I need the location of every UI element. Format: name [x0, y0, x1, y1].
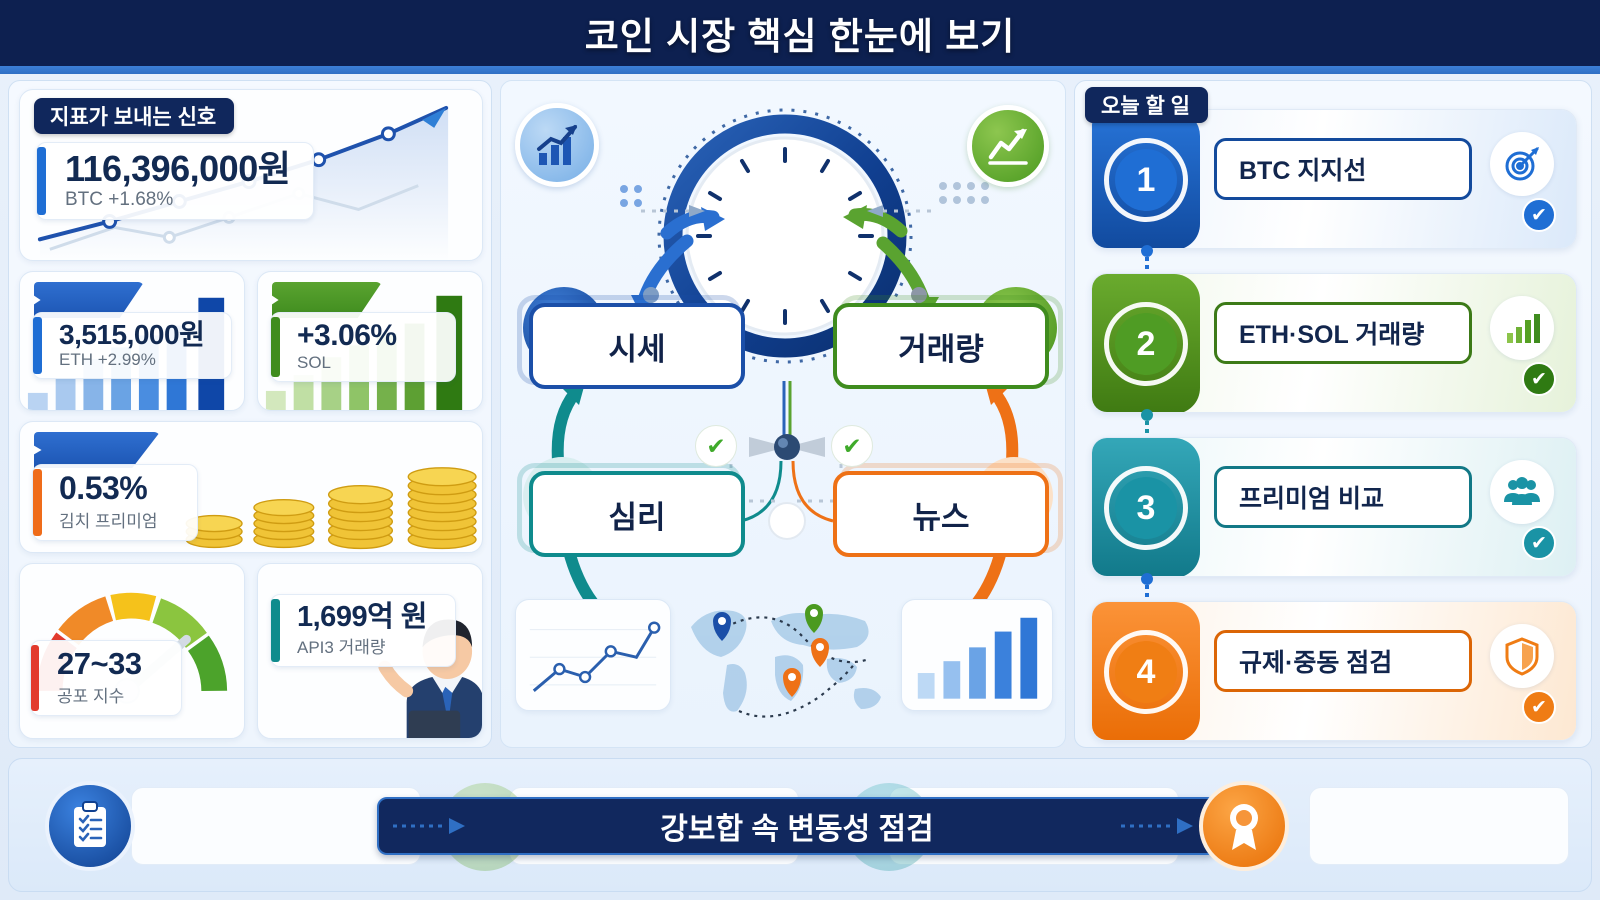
right-panel: 오늘 할 일 1 BTC 지지선 ✔ 2	[1074, 80, 1592, 748]
node-sentiment-label: 심리	[608, 492, 665, 537]
todo-4-number: 4	[1115, 641, 1177, 703]
shield-icon	[1490, 624, 1554, 688]
node-price[interactable]: 시세	[529, 303, 745, 389]
bar-chart-icon	[1490, 296, 1554, 360]
todo-2-label: ETH·SOL 거래량	[1214, 302, 1472, 364]
right-panel-badge: 오늘 할 일	[1085, 87, 1208, 123]
todo-4-label: 규제·중동 점검	[1214, 630, 1472, 692]
target-icon	[1490, 132, 1554, 196]
node-news[interactable]: 뉴스	[833, 471, 1049, 557]
left-panel-badge: 지표가 보내는 신호	[34, 98, 234, 134]
header-accent-rule	[0, 66, 1600, 74]
fear-index-sub: 공포 지수	[57, 682, 165, 707]
node-price-label: 시세	[608, 324, 665, 369]
todo-1-number-badge: 1	[1092, 110, 1200, 249]
todo-2-number: 2	[1115, 313, 1177, 375]
clipboard-check-icon	[45, 781, 135, 871]
api3-accent-bar	[271, 599, 280, 662]
sol-change-value: +3.06%	[297, 320, 439, 352]
btc-value-box: 116,396,000원 BTC +1.68%	[36, 142, 314, 220]
infographic-root: 코인 시장 핵심 한눈에 보기	[0, 0, 1600, 900]
bottom-slot-4	[1309, 787, 1569, 865]
fear-index-value: 27~33	[57, 648, 165, 681]
check-icon-left: ✔	[695, 425, 737, 467]
check-icon-right: ✔	[831, 425, 873, 467]
btc-accent-bar	[37, 147, 46, 215]
api3-value-box: 1,699억 원 API3 거래량	[270, 594, 456, 667]
btc-price-sub: BTC +1.68%	[65, 189, 297, 211]
bottom-summary-bar: 강보합 속 변동성 점검	[8, 758, 1592, 892]
mini-bar-chart	[902, 600, 1052, 711]
mini-line-chart-card	[515, 599, 671, 711]
todo-3-number-badge: 3	[1092, 438, 1200, 577]
api3-volume-value: 1,699억 원	[297, 602, 439, 632]
todo-4-check-icon: ✔	[1522, 690, 1556, 724]
sol-change-card[interactable]: +3.06% SOL	[257, 271, 483, 411]
bottom-message: 강보합 속 변동성 점검	[660, 804, 933, 848]
todo-item-2[interactable]: 2 ETH·SOL 거래량 ✔	[1091, 273, 1577, 413]
sol-change-sub: SOL	[297, 353, 439, 373]
node-volume-label: 거래량	[898, 324, 984, 369]
todo-1-number: 1	[1115, 149, 1177, 211]
sol-accent-bar	[271, 317, 280, 377]
eth-price-value: 3,515,000원	[59, 320, 215, 349]
kimchi-premium-value: 0.53%	[59, 472, 181, 506]
btc-price-card[interactable]: 지표가 보내는 신호 116,396,000원 BTC +1.68%	[19, 89, 483, 261]
kimchi-premium-sub: 김치 프리미엄	[59, 507, 181, 532]
eth-price-card[interactable]: 3,515,000원 ETH +2.99%	[19, 271, 245, 411]
kimchi-accent-bar	[33, 469, 42, 536]
todo-connector-2	[1145, 413, 1149, 435]
todo-3-label: 프리미엄 비교	[1214, 466, 1472, 528]
page-title: 코인 시장 핵심 한눈에 보기	[585, 6, 1016, 60]
todo-item-3[interactable]: 3 프리미엄 비교 ✔	[1091, 437, 1577, 577]
todo-4-number-badge: 4	[1092, 602, 1200, 741]
bottom-message-pill: 강보합 속 변동성 점검	[377, 797, 1217, 855]
node-news-label: 뉴스	[912, 492, 969, 537]
fear-accent-bar	[31, 645, 39, 711]
fear-value-box: 27~33 공포 지수	[30, 640, 182, 716]
todo-1-check-icon: ✔	[1522, 198, 1556, 232]
world-map-illustration	[679, 585, 893, 729]
kimchi-premium-card[interactable]: 0.53% 김치 프리미엄	[19, 421, 483, 553]
eth-value-box: 3,515,000원 ETH +2.99%	[32, 312, 232, 379]
award-ribbon-icon	[1199, 781, 1289, 871]
mini-line-chart	[516, 600, 670, 711]
fear-index-card[interactable]: 27~33 공포 지수	[19, 563, 245, 739]
map-pin-orange-1	[811, 638, 829, 667]
bottom-arrow-right	[1119, 815, 1199, 837]
todo-2-check-icon: ✔	[1522, 362, 1556, 396]
eth-accent-bar	[33, 317, 42, 374]
line-chart-up-icon	[967, 105, 1049, 187]
header-bar: 코인 시장 핵심 한눈에 보기	[0, 0, 1600, 66]
todo-3-check-icon: ✔	[1522, 526, 1556, 560]
left-panel: 지표가 보내는 신호 116,396,000원 BTC +1.68%	[8, 80, 492, 748]
bottom-arrow-left	[391, 815, 471, 837]
todo-item-4[interactable]: 4 규제·중동 점검 ✔	[1091, 601, 1577, 741]
node-sentiment[interactable]: 심리	[529, 471, 745, 557]
api3-volume-sub: API3 거래량	[297, 633, 439, 658]
btc-price-value: 116,396,000원	[65, 150, 297, 188]
todo-connector-1	[1145, 249, 1149, 271]
todo-3-number: 3	[1115, 477, 1177, 539]
center-diagram-panel: 시세 거래량 심리	[500, 80, 1066, 748]
mini-bar-chart-card	[901, 599, 1053, 711]
people-icon	[1490, 460, 1554, 524]
eth-price-sub: ETH +2.99%	[59, 350, 215, 370]
node-volume[interactable]: 거래량	[833, 303, 1049, 389]
kimchi-value-box: 0.53% 김치 프리미엄	[32, 464, 198, 541]
sol-value-box: +3.06% SOL	[270, 312, 456, 382]
todo-1-label: BTC 지지선	[1214, 138, 1472, 200]
todo-connector-3	[1145, 577, 1149, 599]
todo-item-1[interactable]: 1 BTC 지지선 ✔	[1091, 109, 1577, 249]
bar-chart-up-icon	[515, 103, 599, 187]
api3-volume-card[interactable]: 1,699억 원 API3 거래량	[257, 563, 483, 739]
todo-2-number-badge: 2	[1092, 274, 1200, 413]
